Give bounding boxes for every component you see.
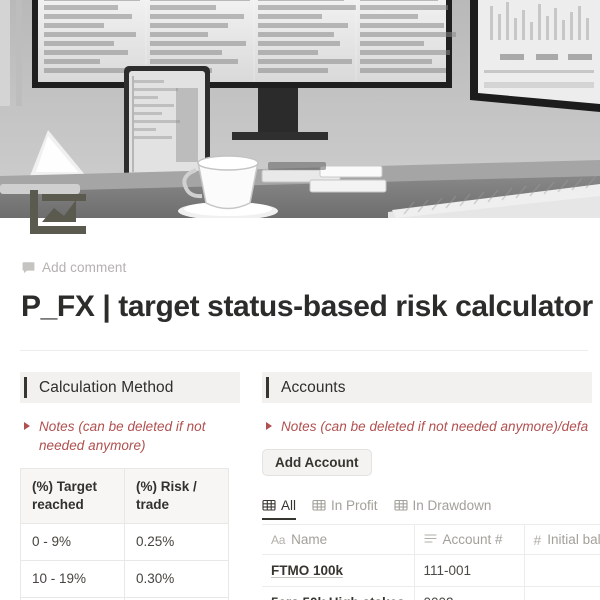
cell-initial-balance: $50,000.00	[524, 587, 600, 600]
table-view-icon	[262, 498, 276, 512]
cell-target-reached: 0 - 9%	[21, 524, 125, 561]
column-calculation-method: Calculation Method Notes (can be deleted…	[0, 372, 262, 600]
cell-account-name[interactable]: 5ers 50k High stakes	[262, 587, 414, 600]
column-header-name[interactable]: Aa Name	[262, 525, 414, 555]
callout-accent-bar	[266, 377, 269, 398]
cell-account-number: 111-001	[414, 555, 524, 587]
column-header-risk-per-trade: (%) Risk / trade	[125, 469, 229, 524]
comment-icon	[22, 261, 35, 274]
tab-all-label: All	[281, 498, 296, 513]
table-header-row: (%) Target reached (%) Risk / trade	[21, 469, 229, 524]
accounts-database-table: Aa Name	[262, 524, 600, 600]
accounts-notes-toggle[interactable]: Notes (can be deleted if not needed anym…	[262, 417, 600, 436]
calculation-method-heading-label: Calculation Method	[39, 379, 174, 397]
tab-in-profit[interactable]: In Profit	[312, 492, 378, 518]
cover-illustration	[0, 0, 600, 218]
cell-account-number: 0002	[414, 587, 524, 600]
two-column-layout: Calculation Method Notes (can be deleted…	[0, 372, 600, 600]
page-cover-image[interactable]	[0, 0, 600, 218]
table-row[interactable]: FTMO 100k 111-001 $100,000.00	[262, 555, 600, 587]
column-header-name-label: Name	[291, 532, 327, 547]
table-view-icon	[312, 498, 326, 512]
cell-target-reached: 10 - 19%	[21, 561, 125, 598]
cell-account-name[interactable]: FTMO 100k	[262, 555, 414, 587]
tab-in-drawdown[interactable]: In Drawdown	[394, 492, 492, 518]
table-row[interactable]: 5ers 50k High stakes 0002 $50,000.00	[262, 587, 600, 600]
chart-page-icon[interactable]	[30, 190, 86, 234]
page-title[interactable]: P_FX | target status-based risk calculat…	[21, 288, 600, 326]
column-header-target-reached: (%) Target reached	[21, 469, 125, 524]
database-header-row: Aa Name	[262, 525, 600, 555]
horizontal-divider	[20, 350, 588, 351]
text-property-icon	[424, 532, 437, 547]
calculation-method-notes-toggle[interactable]: Notes (can be deleted if not needed anym…	[20, 417, 240, 455]
database-view-tabs: All In Profit	[262, 492, 600, 518]
title-property-icon: Aa	[271, 533, 285, 547]
number-property-icon: #	[534, 532, 542, 548]
page-body: Add comment P_FX | target status-based r…	[0, 218, 600, 600]
table-view-icon	[394, 498, 408, 512]
tab-in-drawdown-label: In Drawdown	[413, 498, 492, 513]
table-row[interactable]: 10 - 19% 0.30%	[21, 561, 229, 598]
column-header-initial-balance-label: Initial bal...	[547, 532, 600, 547]
add-account-button[interactable]: Add Account	[262, 449, 372, 476]
add-comment-label: Add comment	[42, 260, 126, 275]
chevron-right-icon[interactable]	[266, 422, 272, 430]
chart-page-icon-glyph	[30, 190, 86, 234]
add-comment-button[interactable]: Add comment	[22, 260, 126, 275]
accounts-heading-label: Accounts	[281, 379, 346, 397]
notion-page: Add comment P_FX | target status-based r…	[0, 0, 600, 600]
column-header-initial-balance[interactable]: # Initial bal...	[524, 525, 600, 555]
column-accounts: Accounts Notes (can be deleted if not ne…	[262, 372, 600, 600]
callout-accent-bar	[24, 377, 27, 398]
accounts-heading[interactable]: Accounts	[262, 372, 592, 403]
cell-risk-per-trade: 0.25%	[125, 524, 229, 561]
cell-risk-per-trade: 0.30%	[125, 561, 229, 598]
cell-account-name-text: FTMO 100k	[271, 563, 343, 578]
calculation-method-heading[interactable]: Calculation Method	[20, 372, 240, 403]
tab-all[interactable]: All	[262, 492, 296, 518]
column-header-account-number[interactable]: Account #	[414, 525, 524, 555]
accounts-notes-label: Notes (can be deleted if not needed anym…	[281, 417, 588, 436]
cell-initial-balance: $100,000.00	[524, 555, 600, 587]
calculation-method-notes-label: Notes (can be deleted if not needed anym…	[39, 417, 234, 455]
tab-in-profit-label: In Profit	[331, 498, 378, 513]
table-row[interactable]: 0 - 9% 0.25%	[21, 524, 229, 561]
column-header-account-number-label: Account #	[443, 532, 503, 547]
calculation-method-table: (%) Target reached (%) Risk / trade 0 - …	[20, 468, 229, 600]
chevron-right-icon[interactable]	[24, 422, 30, 430]
cell-account-name-text: 5ers 50k High stakes	[271, 595, 405, 600]
